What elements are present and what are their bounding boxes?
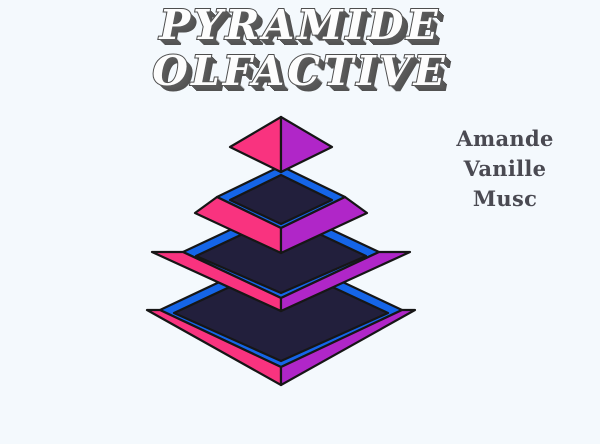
pyramid-tier-apex[interactable] — [230, 117, 332, 172]
pyramid-svg — [0, 0, 600, 444]
fragrance-notes-list: Amande Vanille Musc — [420, 124, 590, 214]
note-item-3: Musc — [420, 184, 590, 214]
olfactory-pyramid-graphic — [0, 0, 600, 444]
note-item-2: Vanille — [420, 154, 590, 184]
poster-canvas: PYRAMIDE OLFACTIVE — [0, 0, 600, 444]
tier-apex-right-wing — [281, 117, 332, 172]
tier-apex-left-wing — [230, 117, 281, 172]
note-item-1: Amande — [420, 124, 590, 154]
